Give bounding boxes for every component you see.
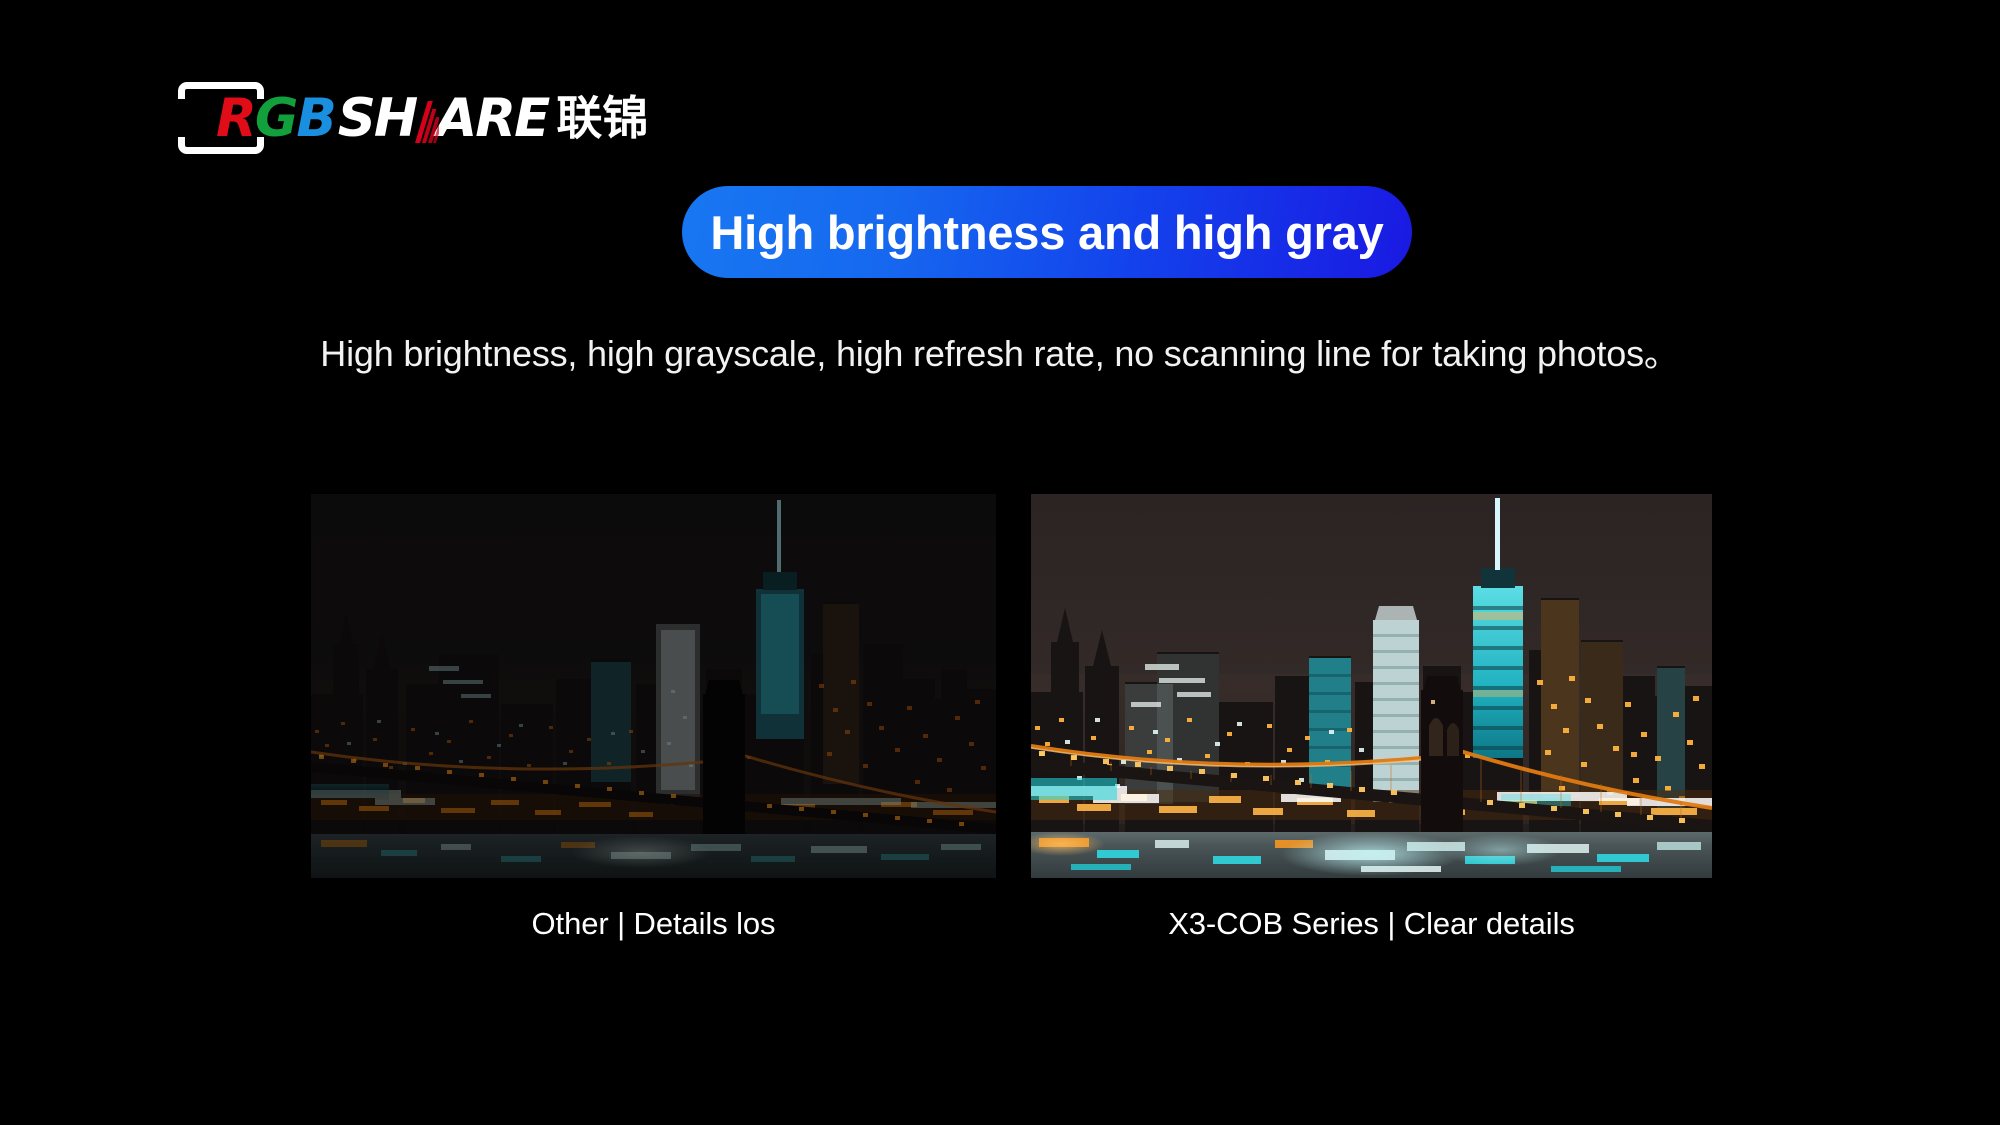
caption-left: Other | Details los bbox=[311, 906, 996, 942]
caption-right: X3-COB Series | Clear details bbox=[1031, 906, 1712, 942]
logo-letter-g: G bbox=[255, 92, 297, 145]
logo-text-sh: SH bbox=[338, 92, 417, 145]
comparison-image-right bbox=[1031, 494, 1712, 878]
cityscape-bright-illustration bbox=[1031, 494, 1712, 878]
slide-title-banner: High brightness and high gray bbox=[682, 186, 1412, 278]
logo-chinese-name: 联锦 bbox=[556, 95, 648, 141]
page-title: High brightness and high gray bbox=[710, 205, 1383, 260]
logo-letter-r: R bbox=[216, 92, 255, 145]
cityscape-dim-illustration bbox=[311, 494, 996, 878]
logo-red-slash-icon bbox=[413, 93, 439, 143]
slide-subtitle: High brightness, high grayscale, high re… bbox=[0, 325, 2000, 377]
logo-wordmark: RGBSHARE联锦 bbox=[216, 92, 648, 145]
brand-logo: RGBSHARE联锦 bbox=[178, 82, 648, 154]
slide-root: RGBSHARE联锦 High brightness and high gray… bbox=[0, 0, 2000, 1125]
logo-letter-b: B bbox=[296, 92, 334, 145]
logo-text-are: ARE bbox=[436, 92, 548, 145]
comparison-image-left bbox=[311, 494, 996, 878]
